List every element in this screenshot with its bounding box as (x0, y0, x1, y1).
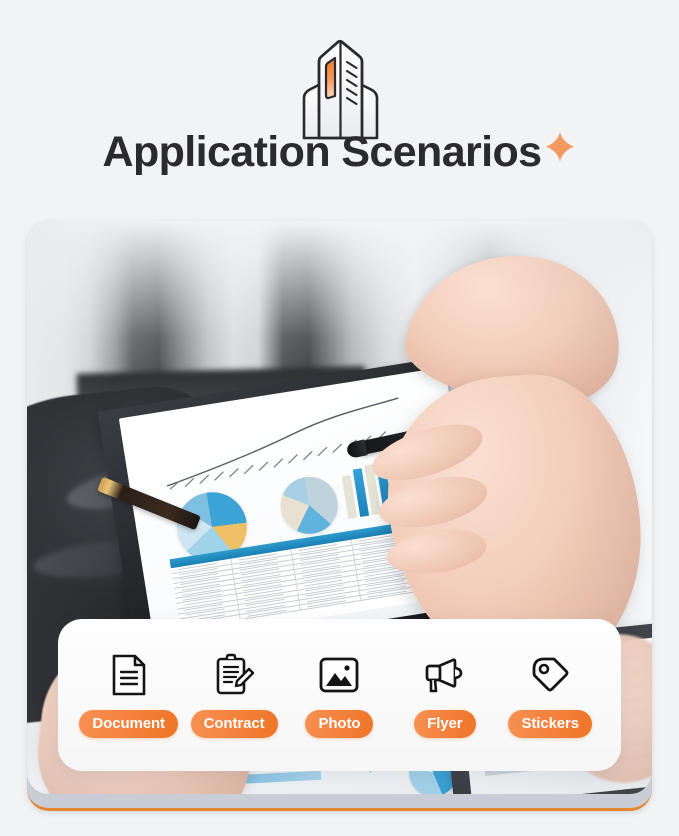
logo-wrap (0, 36, 679, 141)
category-label: Flyer (414, 710, 475, 738)
megaphone-icon (422, 652, 468, 698)
tag-icon (529, 652, 571, 698)
page-title: Application Scenarios (102, 128, 541, 176)
category-label: Stickers (508, 710, 592, 738)
category-label: Contract (191, 710, 278, 738)
document-icon (109, 652, 149, 698)
category-item-stickers[interactable]: Stickers (498, 652, 602, 738)
category-item-contract[interactable]: Contract (182, 652, 286, 738)
photo-icon (317, 652, 361, 698)
pie-chart (276, 472, 341, 537)
category-card: Document Contract Photo (58, 619, 621, 771)
sparkle-icon (543, 130, 577, 164)
category-item-flyer[interactable]: Flyer (393, 652, 497, 738)
category-item-document[interactable]: Document (77, 652, 181, 738)
page-header: Application Scenarios (0, 0, 679, 218)
category-label: Document (79, 710, 178, 738)
category-label: Photo (305, 710, 373, 738)
building-icon (286, 37, 394, 141)
title-row: Application Scenarios (0, 128, 679, 176)
category-item-photo[interactable]: Photo (287, 652, 391, 738)
contract-icon (213, 652, 255, 698)
